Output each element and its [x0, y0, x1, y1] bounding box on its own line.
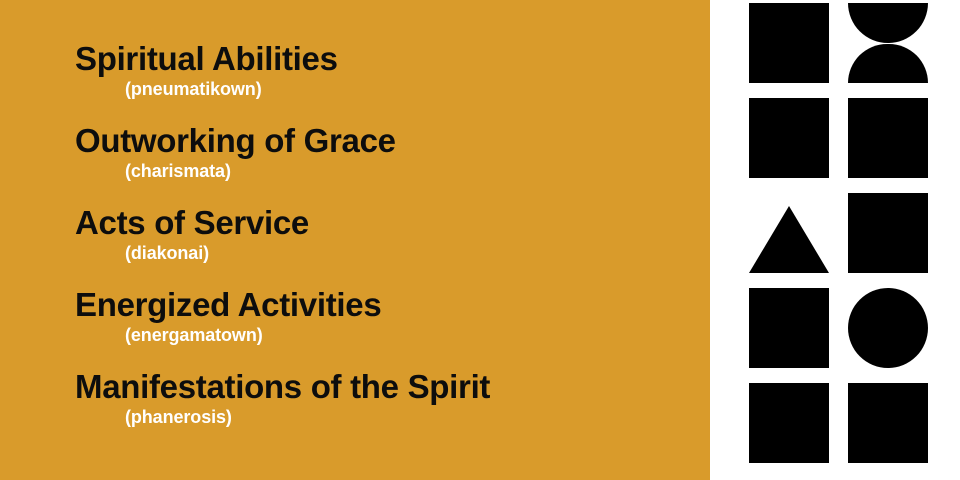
term-entry: Spiritual Abilities (pneumatikown) [75, 40, 695, 122]
term-transliteration: (pneumatikown) [125, 78, 695, 100]
half-circle-down-icon [848, 3, 928, 43]
term-list: Spiritual Abilities (pneumatikown) Outwo… [75, 40, 695, 450]
shape-cell-r5c1 [749, 383, 829, 463]
term-title: Energized Activities [75, 286, 695, 324]
gold-content-panel: Spiritual Abilities (pneumatikown) Outwo… [0, 0, 710, 480]
square-icon [848, 193, 928, 273]
square-icon [749, 288, 829, 368]
shapes-panel [710, 0, 960, 480]
slide-canvas: Spiritual Abilities (pneumatikown) Outwo… [0, 0, 960, 480]
shape-cell-r1c2 [848, 3, 928, 83]
shape-cell-r2c2 [848, 98, 928, 178]
square-icon [848, 98, 928, 178]
term-transliteration: (diakonai) [125, 242, 695, 264]
term-entry: Manifestations of the Spirit (phanerosis… [75, 368, 695, 450]
shape-cell-r4c1 [749, 288, 829, 368]
term-entry: Acts of Service (diakonai) [75, 204, 695, 286]
shape-grid [749, 3, 928, 463]
double-half-circle-icon [848, 3, 928, 83]
circle-icon [848, 288, 928, 368]
term-entry: Outworking of Grace (charismata) [75, 122, 695, 204]
square-icon [749, 3, 829, 83]
square-icon [848, 383, 928, 463]
shape-cell-r2c1 [749, 98, 829, 178]
triangle-icon [749, 206, 829, 273]
shape-cell-r4c2 [848, 288, 928, 368]
shape-cell-r3c2 [848, 193, 928, 273]
term-transliteration: (charismata) [125, 160, 695, 182]
term-title: Acts of Service [75, 204, 695, 242]
half-circle-up-icon [848, 44, 928, 83]
square-icon [749, 383, 829, 463]
term-transliteration: (phanerosis) [125, 406, 695, 428]
shape-cell-r5c2 [848, 383, 928, 463]
term-title: Outworking of Grace [75, 122, 695, 160]
term-transliteration: (energamatown) [125, 324, 695, 346]
term-title: Manifestations of the Spirit [75, 368, 695, 406]
square-icon [749, 98, 829, 178]
term-title: Spiritual Abilities [75, 40, 695, 78]
shape-cell-r3c1 [749, 193, 829, 273]
shape-cell-r1c1 [749, 3, 829, 83]
term-entry: Energized Activities (energamatown) [75, 286, 695, 368]
